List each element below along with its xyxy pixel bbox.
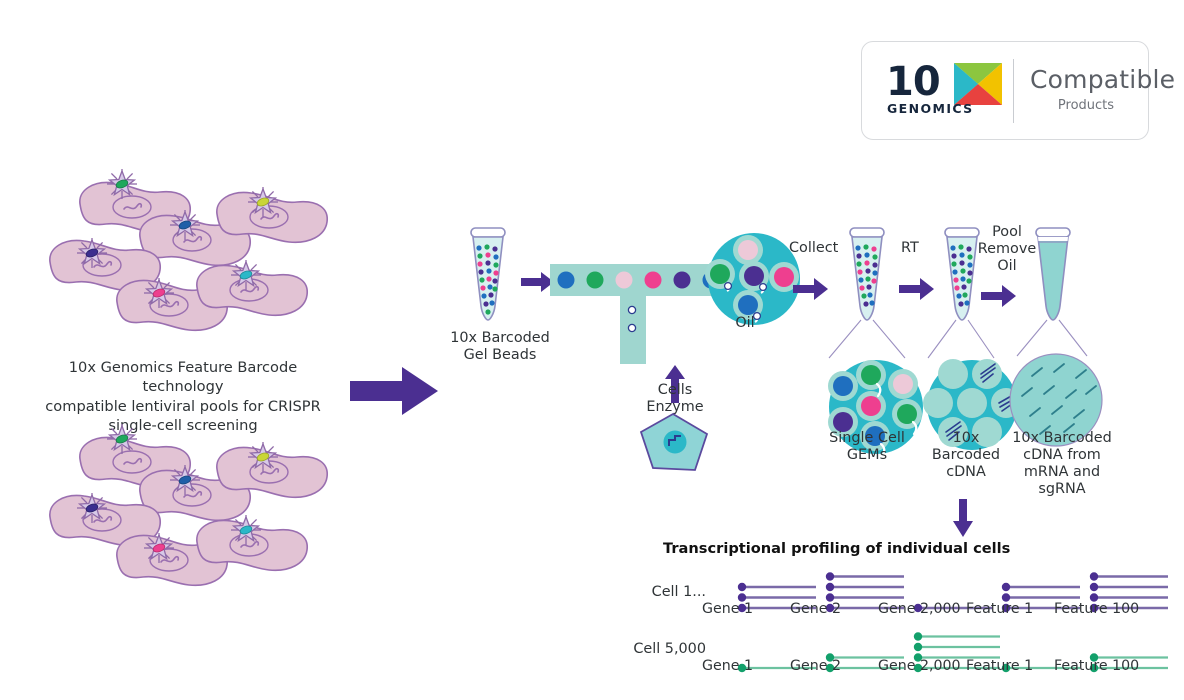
enzyme-cell-icon: [637, 412, 713, 474]
virus-particle: [107, 424, 137, 454]
gems-line-1: Single Cell: [812, 430, 922, 447]
transcript-dot: [738, 583, 746, 591]
row-label-cell-5000: Cell 5,000: [596, 641, 706, 658]
virus-particle: [170, 210, 200, 240]
virus-particle: [231, 515, 261, 545]
oil-droplet-circle: [706, 231, 802, 327]
rt-arrow-icon: [899, 278, 935, 300]
cdna-line-1: 10x: [926, 430, 1006, 447]
transcript-dot: [1002, 583, 1010, 591]
caption-line-1: 10x Genomics Feature Barcode technology: [28, 358, 338, 397]
tenx-logo: 10 GENOMICS: [886, 63, 1006, 119]
gems-line-2: GEMs: [812, 447, 922, 464]
row-label-cell-1: Cell 1...: [600, 584, 706, 601]
pooled-cdna-tube: [1031, 228, 1079, 332]
single-cell-gems-caption: Single Cell GEMs: [812, 430, 922, 464]
cells-enzyme-caption: Cells Enzyme: [620, 382, 730, 416]
cdna2-line-3: mRNA and: [1000, 464, 1124, 481]
cells-label: Cells: [620, 382, 730, 399]
gel-beads-line-1: 10x Barcoded: [437, 330, 563, 347]
caption-line-2: compatible lentiviral pools for CRISPR: [28, 397, 338, 416]
compatible-label: Compatible: [1030, 65, 1142, 94]
pool-arrow-icon: [981, 285, 1017, 307]
virus-particle: [77, 238, 107, 268]
transcript-dot: [914, 632, 922, 640]
gel-beads-tube: [466, 228, 514, 332]
cdna2-line-4: sgRNA: [1000, 481, 1124, 498]
cdna2-line-1: 10x Barcoded: [1000, 430, 1124, 447]
logo-number: 10: [886, 59, 940, 105]
virus-particle: [144, 533, 174, 563]
virus-particle: [170, 465, 200, 495]
virus-particle: [144, 278, 174, 308]
gem-collection-tube: [845, 228, 893, 332]
main-flow-arrow-icon: [350, 363, 442, 419]
transcript-dot: [1090, 583, 1098, 591]
column-label-5: Feature 100: [1054, 601, 1170, 617]
virus-particle: [231, 260, 261, 290]
logo-wordmark: GENOMICS: [887, 101, 974, 116]
column-label-5: Feature 100: [1054, 658, 1170, 674]
rt-label: RT: [901, 240, 935, 257]
transcript-dot: [1090, 572, 1098, 580]
cell-cluster-bottom: [32, 415, 362, 615]
virus-particle: [248, 442, 278, 472]
profiling-title: Transcriptional profiling of individual …: [663, 540, 1083, 557]
barcoded-cdna-caption: 10x Barcoded cDNA: [926, 430, 1006, 481]
transcript-dot: [826, 583, 834, 591]
gel-beads-caption: 10x Barcoded Gel Beads: [437, 330, 563, 364]
cdna2-line-2: cDNA from: [1000, 447, 1124, 464]
cdna-line-2: Barcoded: [926, 447, 1006, 464]
cdna-line-3: cDNA: [926, 464, 1006, 481]
oil-label: Oil: [705, 315, 785, 332]
virus-particle: [248, 187, 278, 217]
cell-cluster-top: [32, 160, 362, 360]
transcript-dot: [826, 572, 834, 580]
compatible-products-text: Compatible Products: [1030, 65, 1142, 113]
tenx-compatible-badge: 10 GENOMICS Compatible Products: [861, 41, 1149, 140]
transcript-dot: [914, 643, 922, 651]
down-arrow-icon: [953, 499, 973, 537]
badge-divider: [1013, 59, 1014, 123]
gel-beads-line-2: Gel Beads: [437, 347, 563, 364]
products-label: Products: [1030, 98, 1142, 113]
collect-arrow-icon: [793, 278, 829, 300]
virus-particle: [77, 493, 107, 523]
virus-particle: [107, 169, 137, 199]
pooled-cdna-caption: 10x Barcoded cDNA from mRNA and sgRNA: [1000, 430, 1124, 498]
